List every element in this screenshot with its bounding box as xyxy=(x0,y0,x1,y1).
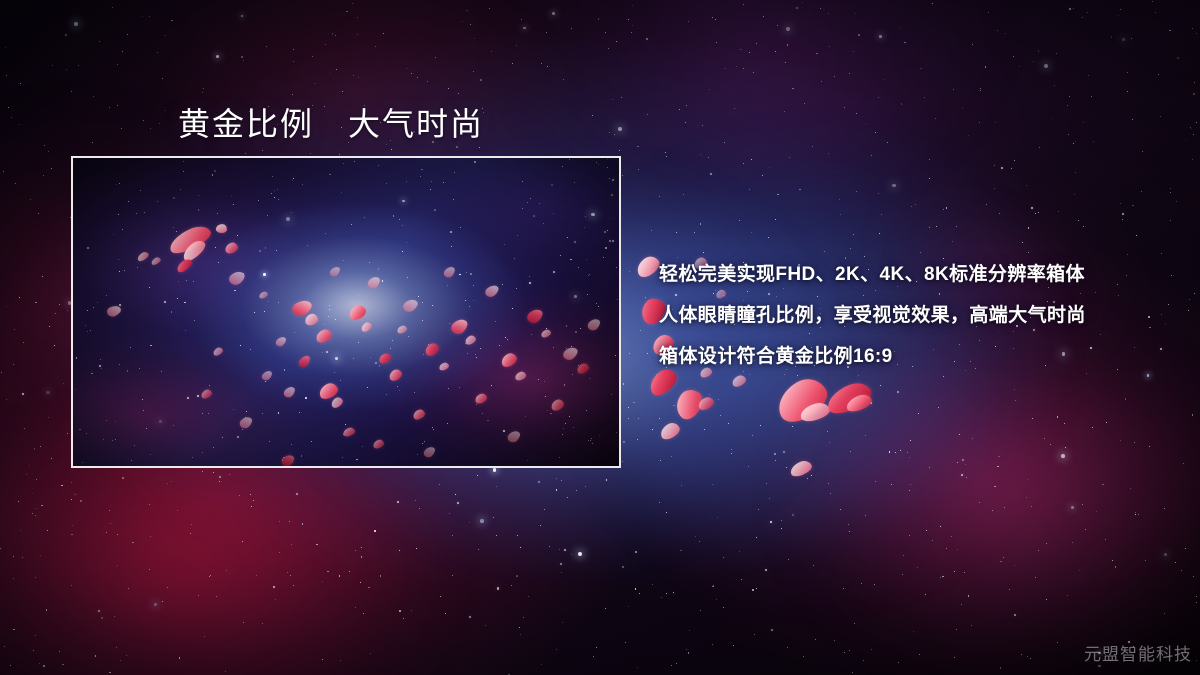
slide-title: 黄金比例 大气时尚 xyxy=(178,99,484,145)
body-line-1: 轻松完美实现FHD、2K、4K、8K标准分辨率箱体 xyxy=(659,254,1159,295)
panel-vignette xyxy=(73,158,619,466)
body-line-3: 箱体设计符合黄金比例16:9 xyxy=(659,336,1159,377)
body-line-2: 人体眼睛瞳孔比例，享受视觉效果，高端大气时尚 xyxy=(659,295,1159,336)
presentation-slide: 黄金比例 大气时尚 轻松完美实现FHD、2K、4K、8K标准分辨率箱体 人体眼睛… xyxy=(0,0,1200,675)
body-text-block: 轻松完美实现FHD、2K、4K、8K标准分辨率箱体 人体眼睛瞳孔比例，享受视觉效… xyxy=(659,254,1159,377)
framed-image-panel xyxy=(71,156,621,468)
company-watermark: 元盟智能科技 xyxy=(1084,640,1192,665)
